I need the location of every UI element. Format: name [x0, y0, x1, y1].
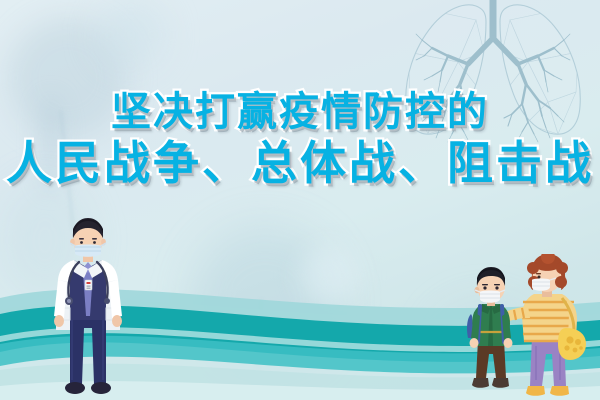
dandelion-silhouette-icon	[190, 225, 340, 375]
dandelion-silhouette-icon	[8, 18, 128, 138]
mother-and-child-figure	[466, 254, 594, 400]
background-blob-icon	[38, 95, 64, 191]
background-blob-icon	[300, 245, 360, 305]
dandelion-stem-icon	[256, 300, 263, 390]
background-blob-icon	[96, 0, 166, 70]
lungs-illustration-icon	[398, 0, 588, 167]
poster-headline: 坚决打赢疫情防控的 人民战争、总体战、阻击战	[0, 92, 600, 187]
headline-line-1: 坚决打赢疫情防控的	[0, 92, 600, 134]
poster-canvas: 坚决打赢疫情防控的 人民战争、总体战、阻击战	[0, 0, 600, 400]
doctor-figure	[34, 216, 142, 400]
dandelion-stem-icon	[60, 110, 75, 230]
headline-line-2: 人民战争、总体战、阻击战	[0, 140, 600, 188]
